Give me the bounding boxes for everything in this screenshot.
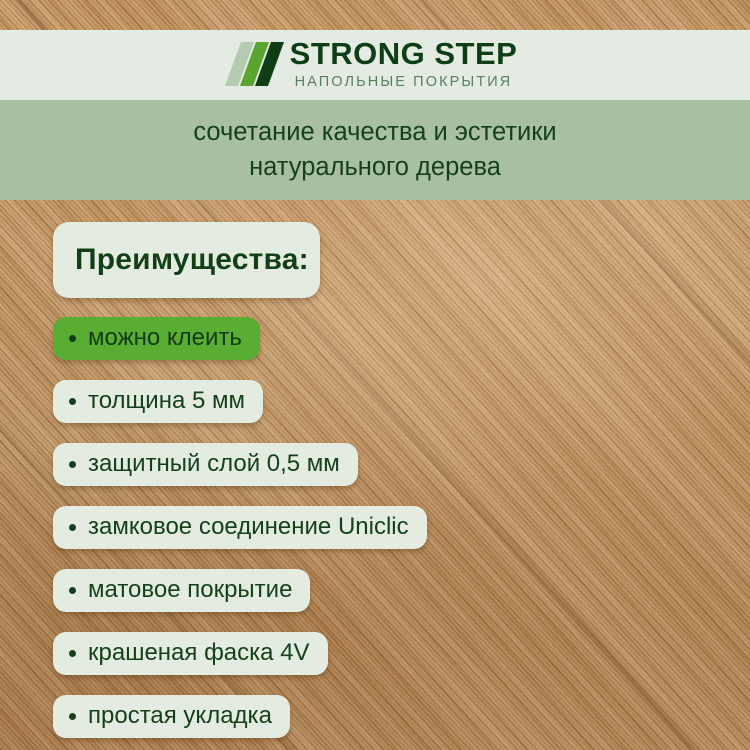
bullet-icon	[69, 650, 76, 657]
banner-line-1: сочетание качества и эстетики	[193, 115, 556, 150]
logo-band: STRONG STEP НАПОЛЬНЫЕ ПОКРЫТИЯ	[0, 30, 750, 100]
banner-line-2: натурального дерева	[249, 150, 501, 185]
list-item-row: простая укладка	[53, 695, 703, 750]
benefit-label: матовое покрытие	[88, 578, 292, 604]
banner-band: сочетание качества и эстетики натурально…	[0, 100, 750, 200]
brand-title: STRONG STEP	[290, 38, 518, 69]
list-item-row: толщина 5 мм	[53, 380, 703, 443]
list-item-row: можно клеить	[53, 317, 703, 380]
benefit-label: можно клеить	[88, 326, 242, 352]
benefit-pill-4: матовое покрытие	[53, 569, 310, 612]
benefit-pill-5: крашеная фаска 4V	[53, 632, 328, 675]
list-item-row: матовое покрытие	[53, 569, 703, 632]
benefit-pill-3: замковое соединение Uniclic	[53, 506, 427, 549]
benefit-pill-2: защитный слой 0,5 мм	[53, 443, 358, 486]
list-item-row: крашеная фаска 4V	[53, 632, 703, 695]
benefits-list: можно клеить толщина 5 мм защитный слой …	[53, 317, 703, 750]
bullet-icon	[69, 713, 76, 720]
benefit-pill-0: можно клеить	[53, 317, 260, 360]
bullet-icon	[69, 587, 76, 594]
list-item-row: замковое соединение Uniclic	[53, 506, 703, 569]
bullet-icon	[69, 335, 76, 342]
benefit-pill-1: толщина 5 мм	[53, 380, 263, 423]
list-item-row: защитный слой 0,5 мм	[53, 443, 703, 506]
benefit-label: толщина 5 мм	[88, 389, 245, 415]
brand-logo: STRONG STEP НАПОЛЬНЫЕ ПОКРЫТИЯ	[233, 38, 518, 90]
benefit-label: простая укладка	[88, 704, 272, 730]
slashes-icon	[233, 42, 276, 86]
benefits-heading-box: Преимущества:	[53, 222, 320, 298]
benefits-heading: Преимущества:	[75, 243, 309, 277]
brand-tagline: НАПОЛЬНЫЕ ПОКРЫТИЯ	[295, 75, 513, 90]
benefit-label: защитный слой 0,5 мм	[88, 452, 340, 478]
bullet-icon	[69, 398, 76, 405]
bullet-icon	[69, 461, 76, 468]
poster: STRONG STEP НАПОЛЬНЫЕ ПОКРЫТИЯ сочетание…	[0, 0, 750, 750]
benefit-label: замковое соединение Uniclic	[88, 515, 409, 541]
benefit-pill-6: простая укладка	[53, 695, 290, 738]
brand-text: STRONG STEP НАПОЛЬНЫЕ ПОКРЫТИЯ	[290, 38, 518, 90]
benefit-label: крашеная фаска 4V	[88, 641, 310, 667]
bullet-icon	[69, 524, 76, 531]
